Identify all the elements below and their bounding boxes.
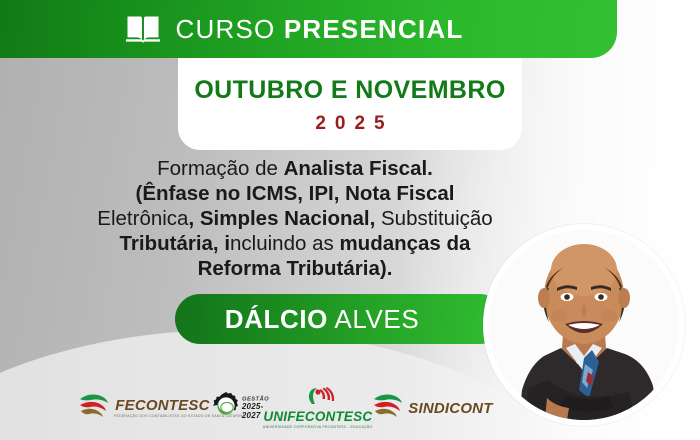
description-line-1-bold: Analista Fiscal. <box>284 157 433 180</box>
gear-emblem-icon <box>211 391 241 426</box>
speaker-name-banner: DÁLCIO ALVES <box>175 294 505 344</box>
logo-gestao: GESTÃO 2025-2027 <box>211 391 263 426</box>
description-line-4-bold-b: mudanças da <box>339 232 470 255</box>
description-line-1-light: Formação de <box>157 157 283 180</box>
unifecontesc-signal-icon <box>301 387 335 410</box>
header-title-bold: PRESENCIAL <box>284 14 464 44</box>
description-line-4-light: ncluindo as <box>230 232 339 255</box>
description-line-5-bold: Reforma Tributária). <box>198 257 393 280</box>
header-content: CURSO PRESENCIAL <box>126 14 464 45</box>
fecontesc-swoosh-icon <box>78 392 110 425</box>
header-title: CURSO PRESENCIAL <box>176 14 464 45</box>
logo-fecontesc: FECONTESC FEDERAÇÃO DOS CONTABILISTAS DO… <box>78 392 211 425</box>
fecontesc-tagline: FEDERAÇÃO DOS CONTABILISTAS DO ESTADO DE… <box>114 414 245 418</box>
description-line-3: Eletrônica, Simples Nacional, Substituiç… <box>40 206 550 231</box>
unifecontesc-tagline: UNIVERSIDADE CORPORATIVA FECONTESC - EDU… <box>263 425 373 429</box>
speaker-first-name: DÁLCIO <box>225 304 328 334</box>
description-line-4-bold-a: Tributária, i <box>120 232 231 255</box>
speaker-last-name: ALVES <box>328 304 419 334</box>
logo-unifecontesc: UNIFECONTESC UNIVERSIDADE CORPORATIVA FE… <box>263 387 372 429</box>
header-bar: CURSO PRESENCIAL <box>0 0 617 58</box>
course-description: Formação de Analista Fiscal. (Ênfase no … <box>40 156 550 281</box>
gestao-years: 2025-2027 <box>242 402 263 420</box>
unifecontesc-name: UNIFECONTESC <box>263 410 372 424</box>
date-months: OUTUBRO E NOVEMBRO <box>194 76 505 105</box>
gestao-label: GESTÃO <box>242 395 269 402</box>
date-card: OUTUBRO E NOVEMBRO 2025 <box>178 58 522 150</box>
course-promo-banner: CURSO PRESENCIAL OUTUBRO E NOVEMBRO 2025… <box>0 0 700 440</box>
description-line-5: Reforma Tributária). <box>40 256 550 281</box>
sindicont-swoosh-icon <box>372 392 404 425</box>
sindicont-name: SINDICONT <box>408 401 492 416</box>
date-year: 2025 <box>306 113 393 135</box>
header-title-light: CURSO <box>176 14 284 44</box>
description-line-3-light-a: Eletrônica <box>97 207 188 230</box>
speaker-portrait <box>489 230 679 420</box>
logo-sindicont: SINDICONT <box>372 392 492 425</box>
open-book-icon <box>126 14 160 44</box>
description-line-4: Tributária, incluindo as mudanças da <box>40 231 550 256</box>
description-line-2-bold: (Ênfase no ICMS, IPI, Nota Fiscal <box>136 182 455 205</box>
speaker-portrait-ring <box>483 224 685 426</box>
description-line-3-bold-a: , Simples Nacional, <box>188 207 375 230</box>
fecontesc-name: FECONTESC <box>115 398 209 413</box>
speaker-name: DÁLCIO ALVES <box>225 304 420 335</box>
description-line-3-light-b: Substituição <box>375 207 492 230</box>
description-line-1: Formação de Analista Fiscal. <box>40 156 550 181</box>
partner-logos: FECONTESC FEDERAÇÃO DOS CONTABILISTAS DO… <box>78 384 478 432</box>
description-line-2: (Ênfase no ICMS, IPI, Nota Fiscal <box>40 181 550 206</box>
